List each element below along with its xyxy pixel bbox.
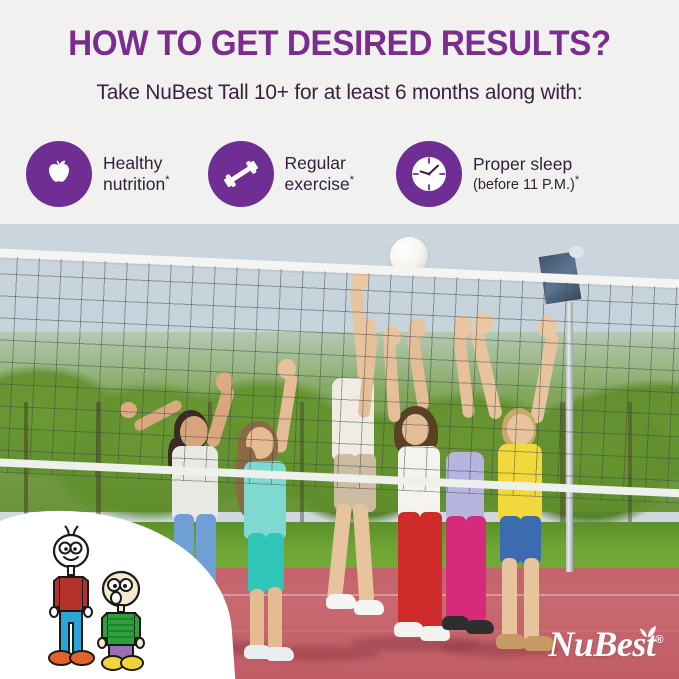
leg <box>353 504 375 605</box>
badge-line-2: nutrition* <box>103 174 170 195</box>
leg <box>268 587 282 651</box>
badge-asterisk: * <box>165 174 169 186</box>
shorts-leg <box>500 516 521 564</box>
badge-circle <box>208 141 274 207</box>
badge-line-1: Regular <box>285 153 354 174</box>
badge-circle <box>396 141 462 207</box>
badge-proper-sleep: Proper sleep (before 11 P.M.)* <box>396 141 579 207</box>
badge-regular-exercise: Regular exercise* <box>208 141 354 207</box>
solar-lamp-icon <box>569 246 584 258</box>
poster-root: HOW TO GET DESIRED RESULTS? Take NuBest … <box>0 0 679 679</box>
benefit-badges: Healthy nutrition* <box>0 141 679 213</box>
leg <box>398 512 420 628</box>
page-subtitle: Take NuBest Tall 10+ for at least 6 mont… <box>10 80 669 105</box>
clock-icon <box>406 151 452 197</box>
badge-healthy-nutrition: Healthy nutrition* <box>26 141 170 207</box>
leg <box>250 589 264 651</box>
badge-line-1: Healthy <box>103 153 170 174</box>
badge-line-2-text: nutrition <box>103 174 165 194</box>
leg <box>524 558 539 642</box>
logo-nu: Nu <box>548 624 593 664</box>
leaf-icon <box>639 625 657 639</box>
shorts-leg <box>520 516 541 564</box>
shorts-leg <box>248 533 266 595</box>
badge-line-1: Proper sleep <box>473 154 579 175</box>
badge-asterisk: * <box>350 174 354 186</box>
badge-label: Regular exercise* <box>285 153 354 194</box>
short-cartoon-kid <box>90 563 152 673</box>
dumbbell-icon <box>220 153 262 195</box>
badge-line-2: exercise* <box>285 174 354 195</box>
badge-label: Healthy nutrition* <box>103 153 170 194</box>
badge-asterisk: * <box>575 174 579 186</box>
badge-sublabel: (before 11 P.M.)* <box>473 174 579 194</box>
shorts-leg <box>266 533 284 593</box>
apple-icon <box>39 154 79 194</box>
header-section: HOW TO GET DESIRED RESULTS? Take NuBest … <box>0 0 679 224</box>
leg <box>502 558 517 640</box>
shoe <box>326 594 356 609</box>
cartoon-characters <box>38 523 158 673</box>
badge-circle <box>26 141 92 207</box>
page-title: HOW TO GET DESIRED RESULTS? <box>17 24 662 64</box>
badge-label: Proper sleep (before 11 P.M.)* <box>473 154 579 195</box>
shoe <box>496 634 526 649</box>
leg <box>446 516 466 626</box>
leg <box>327 503 352 600</box>
shoe <box>266 647 294 661</box>
badge-sub-text: (before 11 P.M.) <box>473 177 575 193</box>
badge-line-2-text: exercise <box>285 174 350 194</box>
